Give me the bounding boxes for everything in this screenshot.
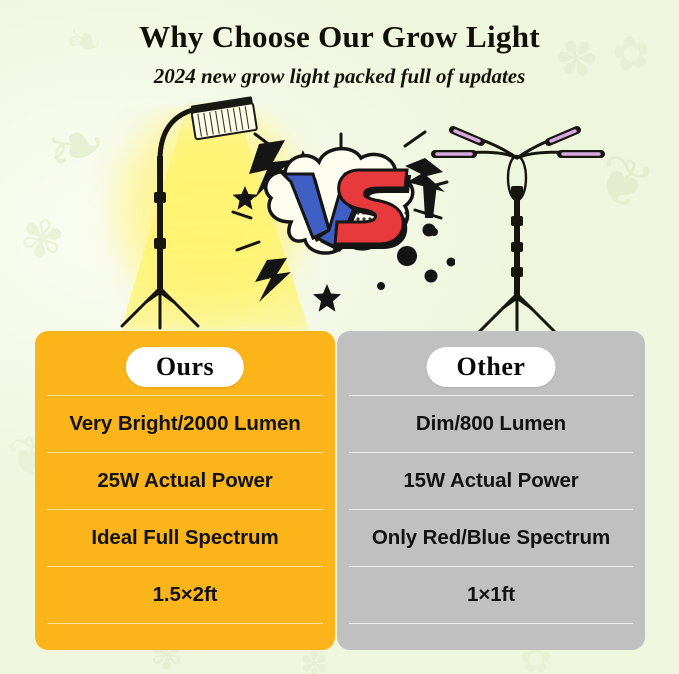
page-title: Why Choose Our Grow Light (0, 19, 679, 55)
table-row: Dim/800 Lumen (337, 396, 645, 452)
exclamation-icon (423, 184, 438, 237)
column-other: Other Dim/800 Lumen 15W Actual Power Onl… (337, 331, 645, 650)
table-row: 25W Actual Power (35, 453, 335, 509)
flower-watermark-icon-2: ✽ (300, 648, 329, 674)
column-ours: Ours Very Bright/2000 Lumen 25W Actual P… (35, 331, 335, 650)
other-rows: Dim/800 Lumen 15W Actual Power Only Red/… (337, 395, 645, 624)
divider (47, 623, 323, 624)
table-row: Very Bright/2000 Lumen (35, 396, 335, 452)
infographic-canvas: ❧ ✾ ❦ ✿ ❧ ✽ ✾ ✽ ✿ ❦ Why Choose Our Grow … (0, 0, 679, 674)
table-row: 15W Actual Power (337, 453, 645, 509)
page-subtitle: 2024 new grow light packed full of updat… (0, 64, 679, 89)
table-row: Only Red/Blue Spectrum (337, 510, 645, 566)
column-header-other-label: Other (457, 352, 526, 381)
ours-rows: Very Bright/2000 Lumen 25W Actual Power … (35, 395, 335, 624)
comparison-table: Ours Very Bright/2000 Lumen 25W Actual P… (0, 331, 679, 651)
column-header-ours: Ours (126, 347, 244, 387)
column-header-other: Other (427, 347, 556, 387)
header: Why Choose Our Grow Light 2024 new grow … (0, 0, 679, 89)
vs-badge (229, 126, 455, 322)
table-row: 1.5×2ft (35, 567, 335, 623)
table-row: Ideal Full Spectrum (35, 510, 335, 566)
column-header-ours-label: Ours (156, 352, 214, 381)
divider (349, 623, 632, 624)
table-row: 1×1ft (337, 567, 645, 623)
